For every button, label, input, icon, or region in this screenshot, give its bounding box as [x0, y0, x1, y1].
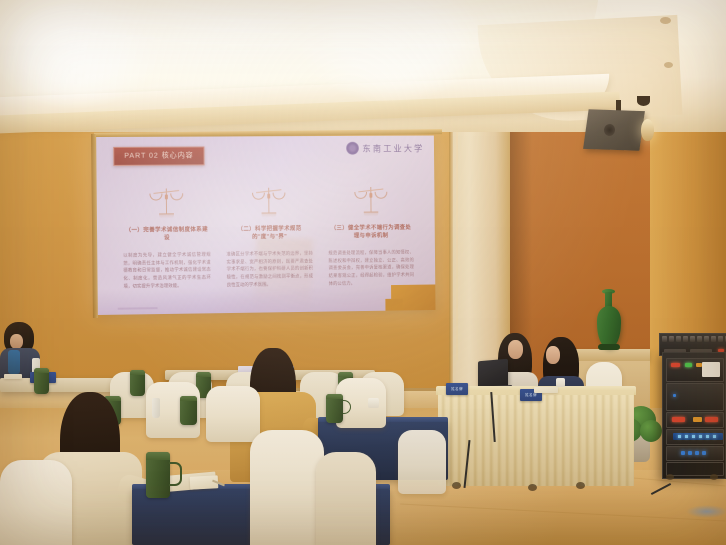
table-foot	[528, 484, 537, 491]
document-sheet	[534, 387, 558, 393]
slide-column-heading: （三）健全学术不端行为调查处理与申诉机制	[328, 224, 414, 241]
table-foot	[452, 482, 461, 489]
av-equipment-rack[interactable]	[662, 352, 726, 479]
rack-floor-reflection	[686, 505, 726, 518]
ceiling-light-glare-center	[296, 0, 486, 104]
placard-text: 姓名牌	[446, 383, 468, 395]
face	[546, 346, 560, 364]
screen-corner-spill-notch	[385, 299, 402, 311]
thermos-lid	[326, 394, 343, 399]
rack-label	[702, 362, 720, 377]
rack-caster	[710, 474, 718, 480]
mixer-knob	[697, 336, 702, 342]
balance-scale-icon	[354, 181, 387, 219]
level-led-icon	[693, 417, 702, 422]
mixer-knob	[711, 336, 716, 342]
water-cup	[368, 398, 379, 408]
slide-section-banner: PART 02 核心内容	[113, 146, 204, 165]
conference-room-photo: PART 02 核心内容 东南工业大学 （一）完善学术诚信制度体系建设 以制度为…	[0, 0, 726, 545]
ceiling-sprinkler-icon	[664, 62, 673, 68]
slide-column: （三）健全学术不端行为调查处理与申诉机制 规范调查处理流程，保障当事人的知情权、…	[328, 181, 414, 288]
thermos-handle	[169, 462, 182, 486]
level-led-icon	[705, 417, 718, 422]
mixer-knob-row	[660, 336, 726, 342]
side-chair[interactable]	[398, 430, 446, 494]
thermos-lid	[34, 368, 49, 373]
slide-university-logo: 东南工业大学	[346, 141, 424, 154]
mixer-knob	[683, 336, 688, 342]
slide-column: （二）科学把握学术规范的"度"与"界" 准确区分学术不端与学术失范的边界，坚持实…	[226, 181, 313, 289]
balance-scale-icon	[252, 182, 286, 220]
slide-column-heading: （一）完善学术诚信制度体系建设	[123, 226, 211, 244]
mixer-knob	[690, 336, 695, 342]
lanyard	[8, 350, 20, 374]
slide-column: （一）完善学术诚信制度体系建设 以制度为先导，建立健全学术诚信管理规范，明确责任…	[123, 182, 212, 290]
mixer-knob	[669, 336, 674, 342]
wall-sconce-light	[641, 119, 654, 141]
face	[10, 334, 23, 349]
mixer-knob	[676, 336, 681, 342]
green-ceramic-vase	[597, 306, 621, 348]
chair[interactable]	[0, 460, 72, 545]
document-sheet	[4, 374, 22, 379]
chair[interactable]	[316, 452, 376, 545]
blue-display-panel	[673, 433, 723, 440]
chair[interactable]	[250, 430, 324, 545]
thermos-lid	[338, 372, 353, 377]
slide-columns: （一）完善学术诚信制度体系建设 以制度为先导，建立健全学术诚信管理规范，明确责任…	[123, 181, 415, 291]
water-cup	[556, 378, 565, 387]
chair[interactable]	[206, 386, 260, 442]
table-foot	[576, 482, 585, 489]
plant-foliage	[640, 420, 662, 442]
vase-foot	[598, 344, 620, 350]
dome-camera-icon	[637, 96, 650, 106]
level-led-icon	[672, 417, 685, 422]
water-bottle	[152, 398, 160, 418]
face	[508, 340, 523, 359]
thermos-lid	[130, 370, 145, 375]
slide-column-body: 准确区分学术不端与学术失范的边界，坚持实事求是、宽严相济的原则，既要严肃查处学术…	[226, 249, 313, 289]
left-table	[0, 378, 118, 392]
ceiling-light-glare-left	[0, 0, 160, 108]
slide-column-heading: （二）科学把握学术规范的"度"与"界"	[226, 225, 313, 242]
balance-scale-icon	[150, 182, 184, 220]
status-led-icon	[685, 363, 692, 367]
slide-column-body: 规范调查处理流程，保障当事人的知情权、陈述权和申辩权，建立独立、公正、高效的调查…	[328, 248, 414, 288]
rack-unit-display[interactable]	[666, 429, 724, 445]
rack-unit-processor[interactable]	[666, 412, 724, 428]
rack-unit-amplifier[interactable]	[666, 358, 724, 382]
thermos-lid	[146, 452, 170, 460]
mixer-knob	[662, 336, 667, 342]
rack-unit-meter[interactable]	[666, 446, 724, 461]
mixer-knob	[704, 336, 709, 342]
power-led-icon	[671, 363, 680, 367]
university-name-calligraphy: 东南工业大学	[362, 142, 424, 154]
thermos-lid	[196, 372, 211, 377]
slide-column-body: 以制度为先导，建立健全学术诚信管理规范，明确责任主体与工作机制，强化学术道德教育…	[123, 251, 211, 291]
rack-unit-player[interactable]	[666, 383, 724, 411]
name-placard: 姓名牌	[446, 383, 468, 395]
ceiling-vent-icon	[660, 17, 671, 24]
university-seal-icon	[346, 142, 359, 155]
slide-footer-rule	[118, 307, 158, 310]
projection-screen[interactable]: PART 02 核心内容 东南工业大学 （一）完善学术诚信制度体系建设 以制度为…	[96, 136, 435, 315]
thermos-lid	[180, 396, 197, 401]
status-led-icon	[673, 394, 676, 397]
mixer-knob	[718, 336, 723, 342]
rack-caster	[666, 474, 674, 480]
